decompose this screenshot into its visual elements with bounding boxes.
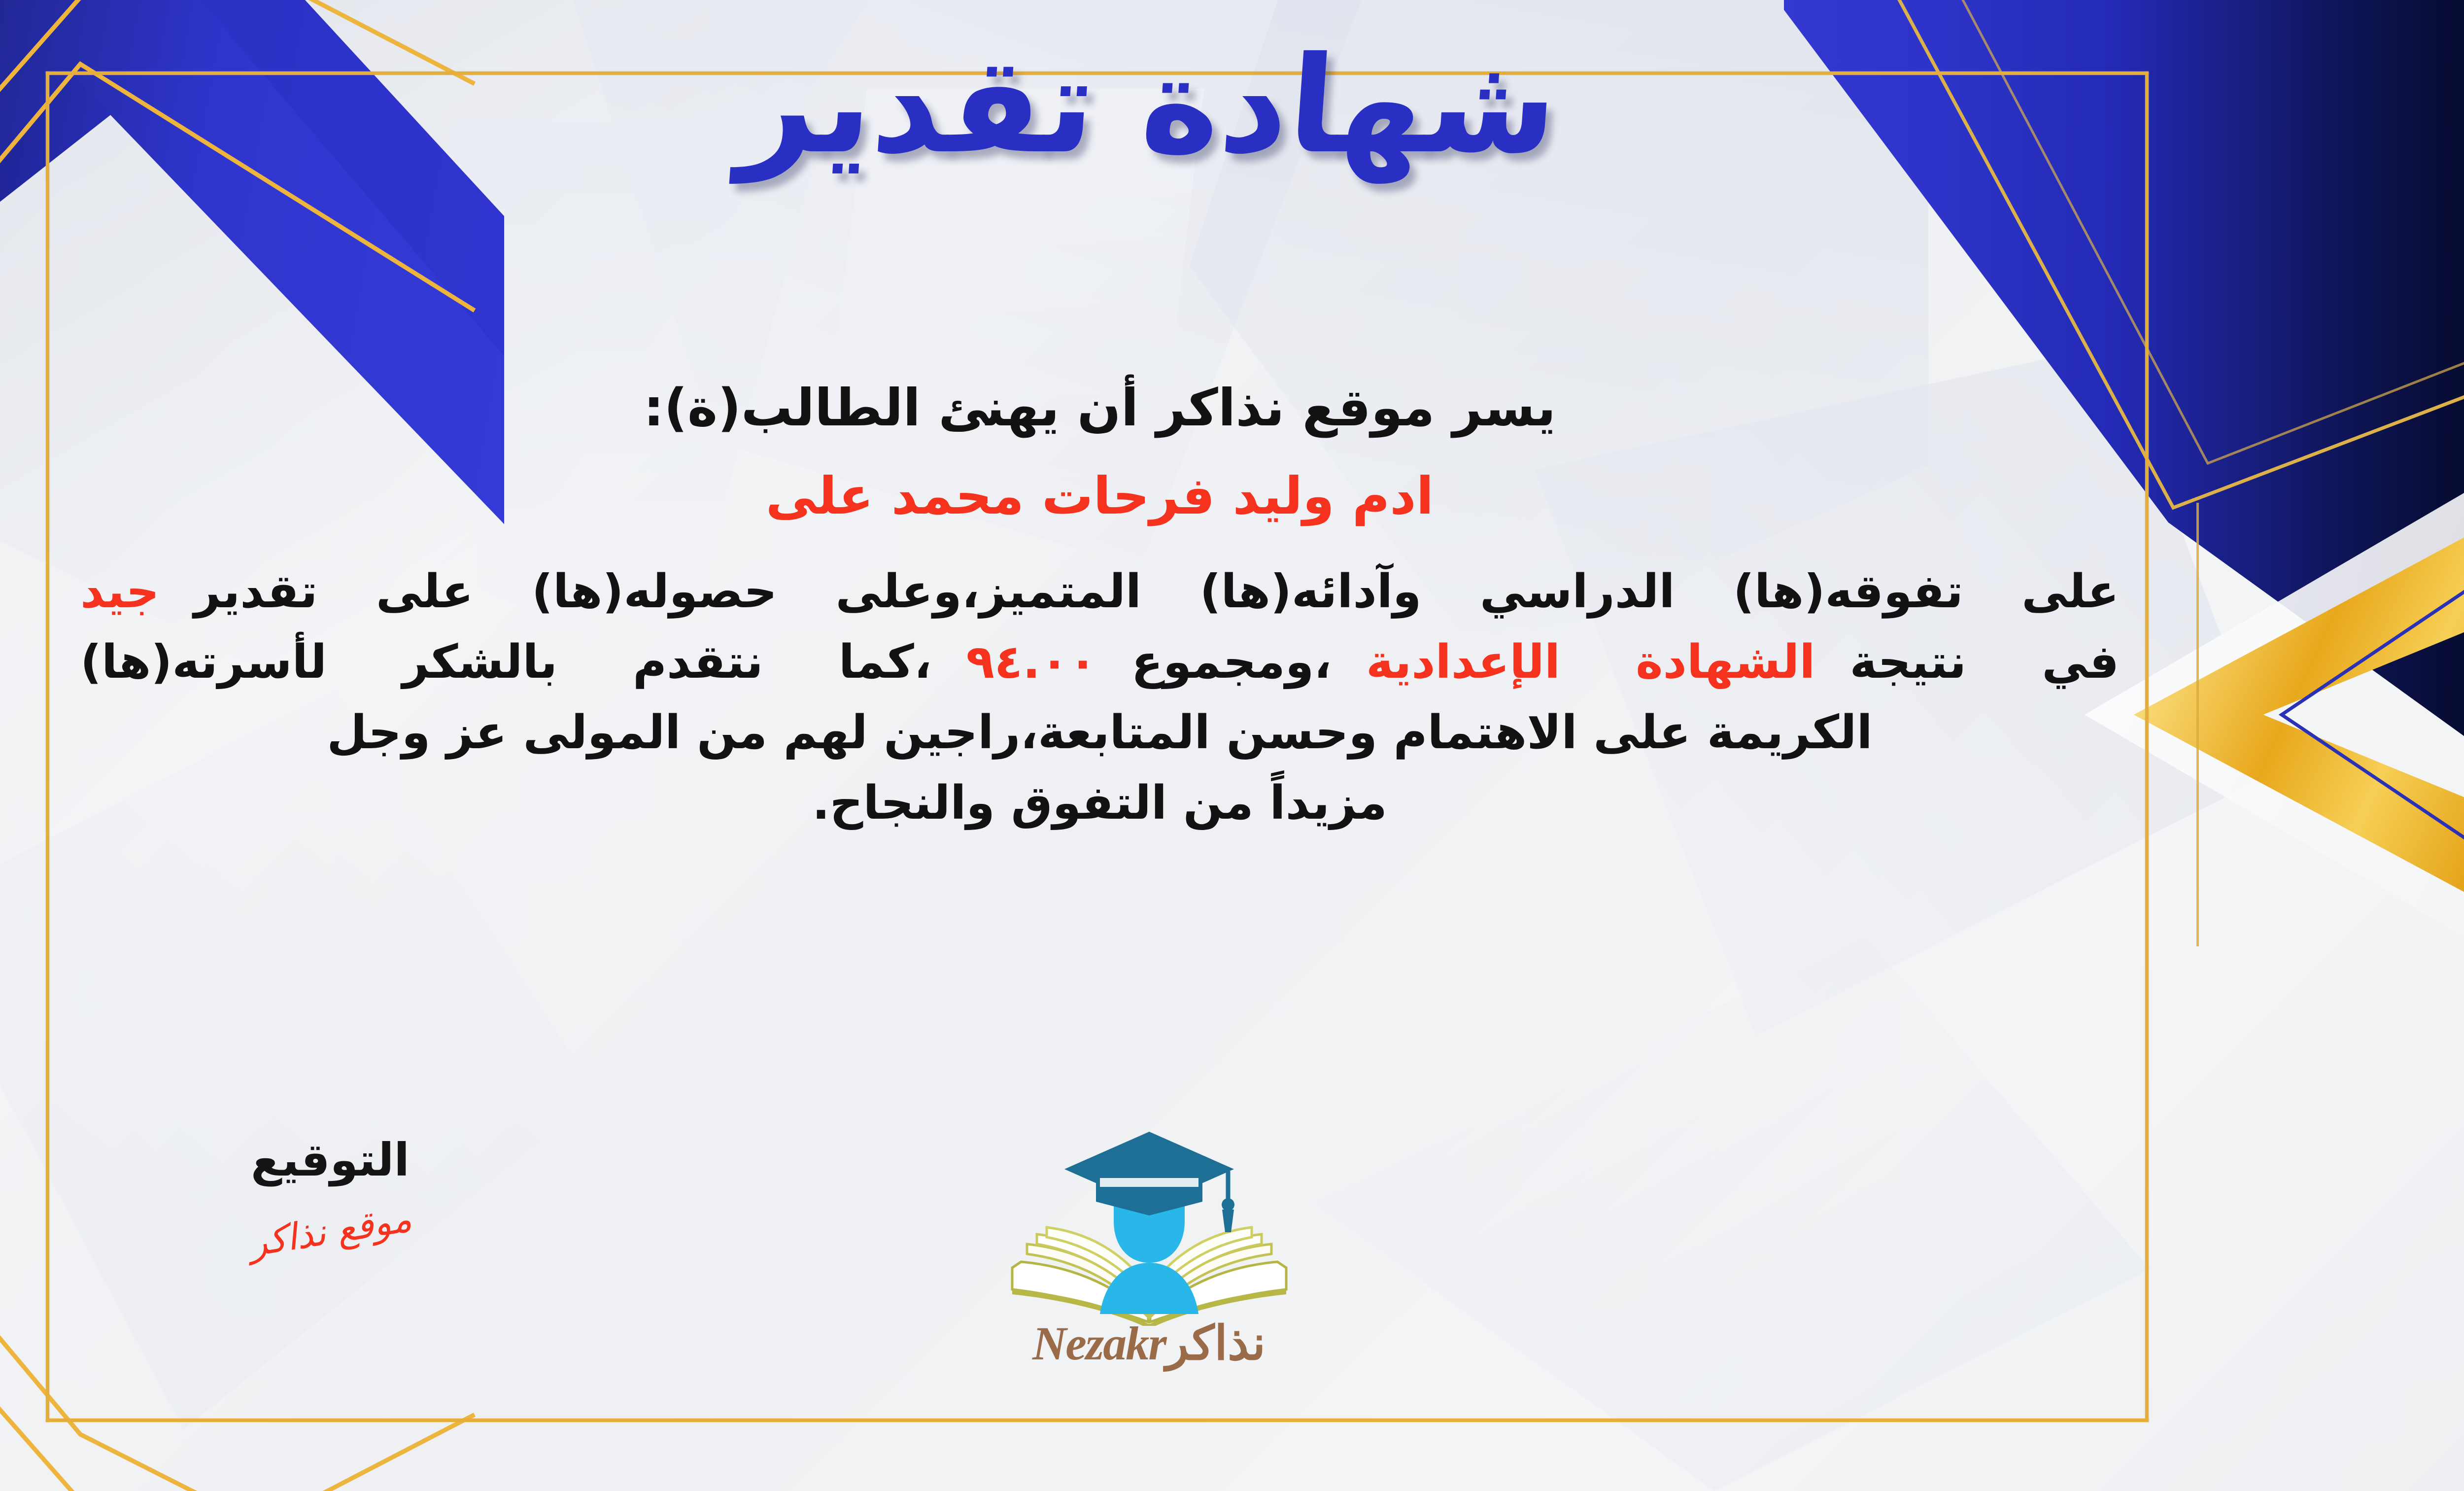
body-line-2-suffix: ،كما نتقدم بالشكر لأسرته(ها) [80, 635, 932, 689]
certificate-name: الشهادة الإعدادية [1366, 635, 1815, 689]
total-score: ٩٤.٠٠ [966, 635, 1097, 689]
body-paragraph: على تفوقه(ها) الدراسي وآدائه(ها) المتميز… [80, 557, 2119, 839]
gold-vertical-accent [2196, 503, 2199, 946]
student-name: ادم وليد فرحات محمد على [80, 463, 2119, 529]
body-line-2: في نتيجةالشهادة الإعدادية،ومجموع٩٤.٠٠،كم… [80, 627, 2119, 698]
body-line-4: مزيداً من التفوق والنجاح. [80, 768, 2119, 839]
graduation-cap-icon [1061, 1128, 1238, 1241]
site-logo: نذاكرNezakr [0, 1119, 2464, 1371]
certificate-title: شهادة تقدير [735, 22, 1564, 189]
certificate-page: شهادة تقدير يسر موقع نذاكر أن يهنئ الطال… [0, 0, 2464, 1491]
certificate-body: يسر موقع نذاكر أن يهنئ الطالب(ة): ادم ول… [80, 375, 2119, 839]
grade-value: جيد [80, 565, 159, 619]
body-line-1-text: على تفوقه(ها) الدراسي وآدائه(ها) المتميز… [194, 565, 2119, 619]
body-line-2-prefix: في نتيجة [1849, 635, 2119, 689]
intro-line: يسر موقع نذاكر أن يهنئ الطالب(ة): [80, 375, 2119, 441]
logo-artwork [992, 1119, 1307, 1326]
body-line-1: على تفوقه(ها) الدراسي وآدائه(ها) المتميز… [80, 557, 2119, 627]
body-line-2-middle: ،ومجموع [1131, 635, 1332, 689]
certificate-title-area: شهادة تقدير [0, 22, 2464, 189]
body-line-3: الكريمة على الاهتمام وحسن المتابعة،راجين… [80, 698, 2119, 768]
certificate-footer: التوقيع موقع نذاكر [0, 1134, 2464, 1439]
